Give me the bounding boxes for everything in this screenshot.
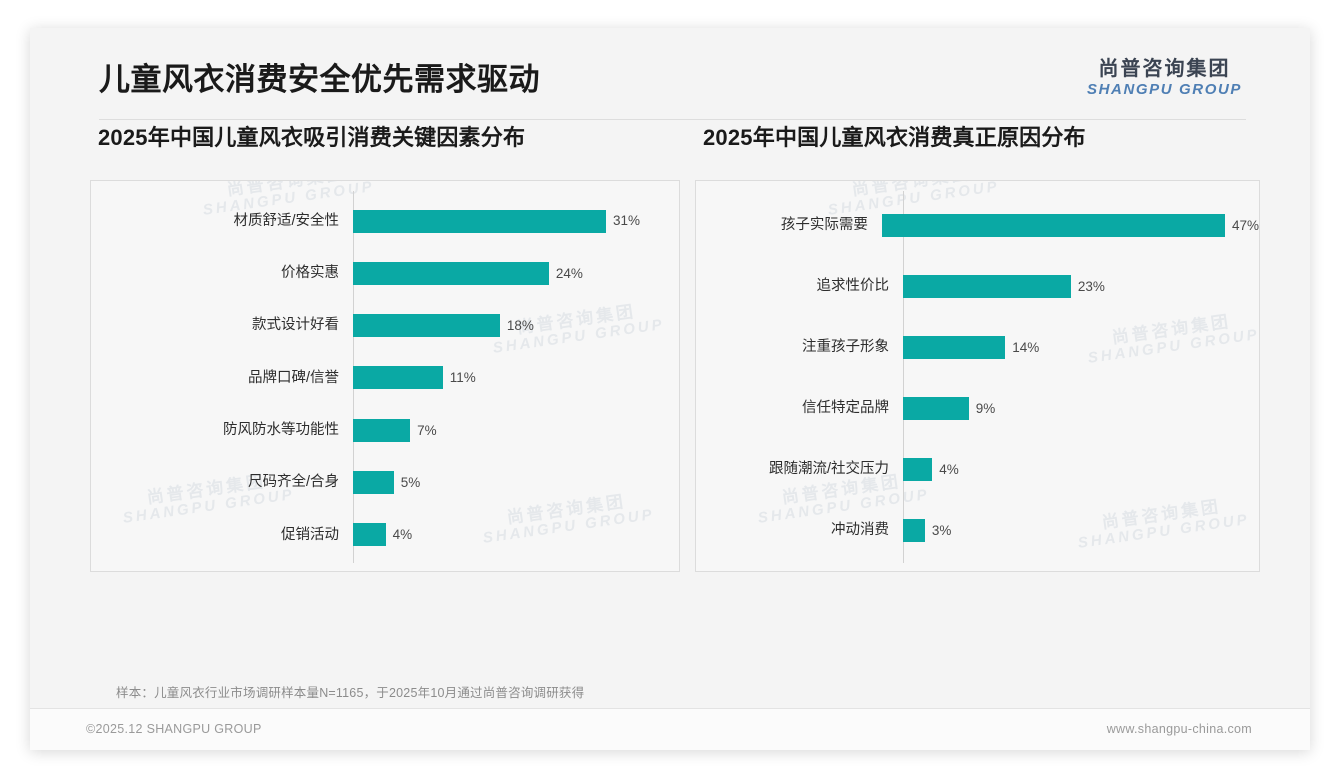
bar-category-label: 价格实惠 [91,266,353,281]
bar-plot-right: 孩子实际需要47%追求性价比23%注重孩子形象14%信任特定品牌9%跟随潮流/社… [696,181,1259,571]
bar-value-label: 31% [613,214,640,228]
bar-value-label: 47% [1232,219,1259,233]
bar-plot-left: 材质舒适/安全性31%价格实惠24%款式设计好看18%品牌口碑/信誉11%防风防… [91,181,679,571]
slide-header: 儿童风衣消费安全优先需求驱动 尚普咨询集团 SHANGPU GROUP [30,28,1310,120]
bar-value-label: 23% [1078,280,1105,294]
bar-value-label: 24% [556,267,583,281]
website-link[interactable]: www.shangpu-china.com [1107,722,1252,736]
chart-axis-right [903,191,904,563]
bar-value-label: 11% [450,371,476,385]
bar-row: 款式设计好看18% [91,312,679,340]
bar-value-label: 9% [976,402,996,416]
bar [903,458,932,481]
bar-category-label: 注重孩子形象 [696,340,903,355]
chart-panel-right: 尚普咨询集团 SHANGPU GROUP 尚普咨询集团 SHANGPU GROU… [695,180,1260,572]
bar [903,336,1005,359]
slide-footer: ©2025.12 SHANGPU GROUP www.shangpu-china… [30,709,1310,750]
chart-block-attraction-factors: 2025年中国儿童风衣吸引消费关键因素分布 尚普咨询集团 SHANGPU GRO… [90,120,680,572]
bar [353,419,410,442]
bar-container: 7% [353,419,679,442]
bar-category-label: 追求性价比 [696,279,903,294]
copyright-text: ©2025.12 SHANGPU GROUP [86,722,262,736]
bar-row: 品牌口碑/信誉11% [91,364,679,392]
bar-category-label: 跟随潮流/社交压力 [696,462,903,477]
page-title: 儿童风衣消费安全优先需求驱动 [99,54,540,99]
bar-category-label: 孩子实际需要 [696,218,882,233]
bar-container: 24% [353,262,679,285]
bar-container: 4% [903,458,1259,481]
chart-panel-left: 尚普咨询集团 SHANGPU GROUP 尚普咨询集团 SHANGPU GROU… [90,180,680,572]
logo-english-text: SHANGPU GROUP [1087,81,1242,99]
bar [353,314,500,337]
bar-container: 23% [903,275,1259,298]
bar-container: 9% [903,397,1259,420]
bar-row: 跟随潮流/社交压力4% [696,456,1259,484]
bar-row: 孩子实际需要47% [696,212,1259,240]
bar-row: 促销活动4% [91,521,679,549]
bar [353,471,394,494]
bar-container: 14% [903,336,1259,359]
bar-container: 47% [882,214,1259,237]
bar-category-label: 促销活动 [91,528,353,543]
bar-value-label: 4% [393,528,413,542]
logo-chinese-text: 尚普咨询集团 [1087,58,1242,81]
bar [353,366,443,389]
bar-container: 11% [353,366,679,389]
bar [903,519,925,542]
bar-value-label: 4% [939,463,959,477]
bar-category-label: 款式设计好看 [91,318,353,333]
bar-container: 5% [353,471,679,494]
bar-container: 31% [353,210,679,233]
bar-category-label: 防风防水等功能性 [91,423,353,438]
bar [903,397,969,420]
bar [353,210,606,233]
bar-category-label: 材质舒适/安全性 [91,214,353,229]
bar-category-label: 尺码齐全/合身 [91,475,353,490]
sample-footnote: 样本：儿童风衣行业市场调研样本量N=1165，于2025年10月通过尚普咨询调研… [116,682,584,701]
bar-row: 冲动消费3% [696,517,1259,545]
bar-value-label: 14% [1012,341,1039,355]
bar-category-label: 信任特定品牌 [696,401,903,416]
bar-category-label: 冲动消费 [696,523,903,538]
bar-row: 信任特定品牌9% [696,395,1259,423]
chart-block-real-reasons: 2025年中国儿童风衣消费真正原因分布 尚普咨询集团 SHANGPU GROUP… [695,120,1260,572]
bar-row: 材质舒适/安全性31% [91,207,679,235]
bar-row: 防风防水等功能性7% [91,416,679,444]
chart-title-right: 2025年中国儿童风衣消费真正原因分布 [703,120,1260,152]
bar-container: 3% [903,519,1259,542]
bar-value-label: 7% [417,424,437,438]
chart-title-left: 2025年中国儿童风衣吸引消费关键因素分布 [98,120,680,152]
bar-value-label: 3% [932,524,952,538]
bar-row: 追求性价比23% [696,273,1259,301]
slide-page: 儿童风衣消费安全优先需求驱动 尚普咨询集团 SHANGPU GROUP 2025… [0,0,1340,780]
bar-value-label: 18% [507,319,534,333]
bar-row: 尺码齐全/合身5% [91,469,679,497]
bar-container: 18% [353,314,679,337]
bar [903,275,1071,298]
bar-container: 4% [353,523,679,546]
company-logo: 尚普咨询集团 SHANGPU GROUP [1087,58,1242,99]
bar-row: 注重孩子形象14% [696,334,1259,362]
bar-value-label: 5% [401,476,421,490]
bar [353,262,549,285]
bar [882,214,1225,237]
slide-card: 儿童风衣消费安全优先需求驱动 尚普咨询集团 SHANGPU GROUP 2025… [30,28,1310,750]
bar-category-label: 品牌口碑/信誉 [91,371,353,386]
bar [353,523,386,546]
bar-row: 价格实惠24% [91,259,679,287]
